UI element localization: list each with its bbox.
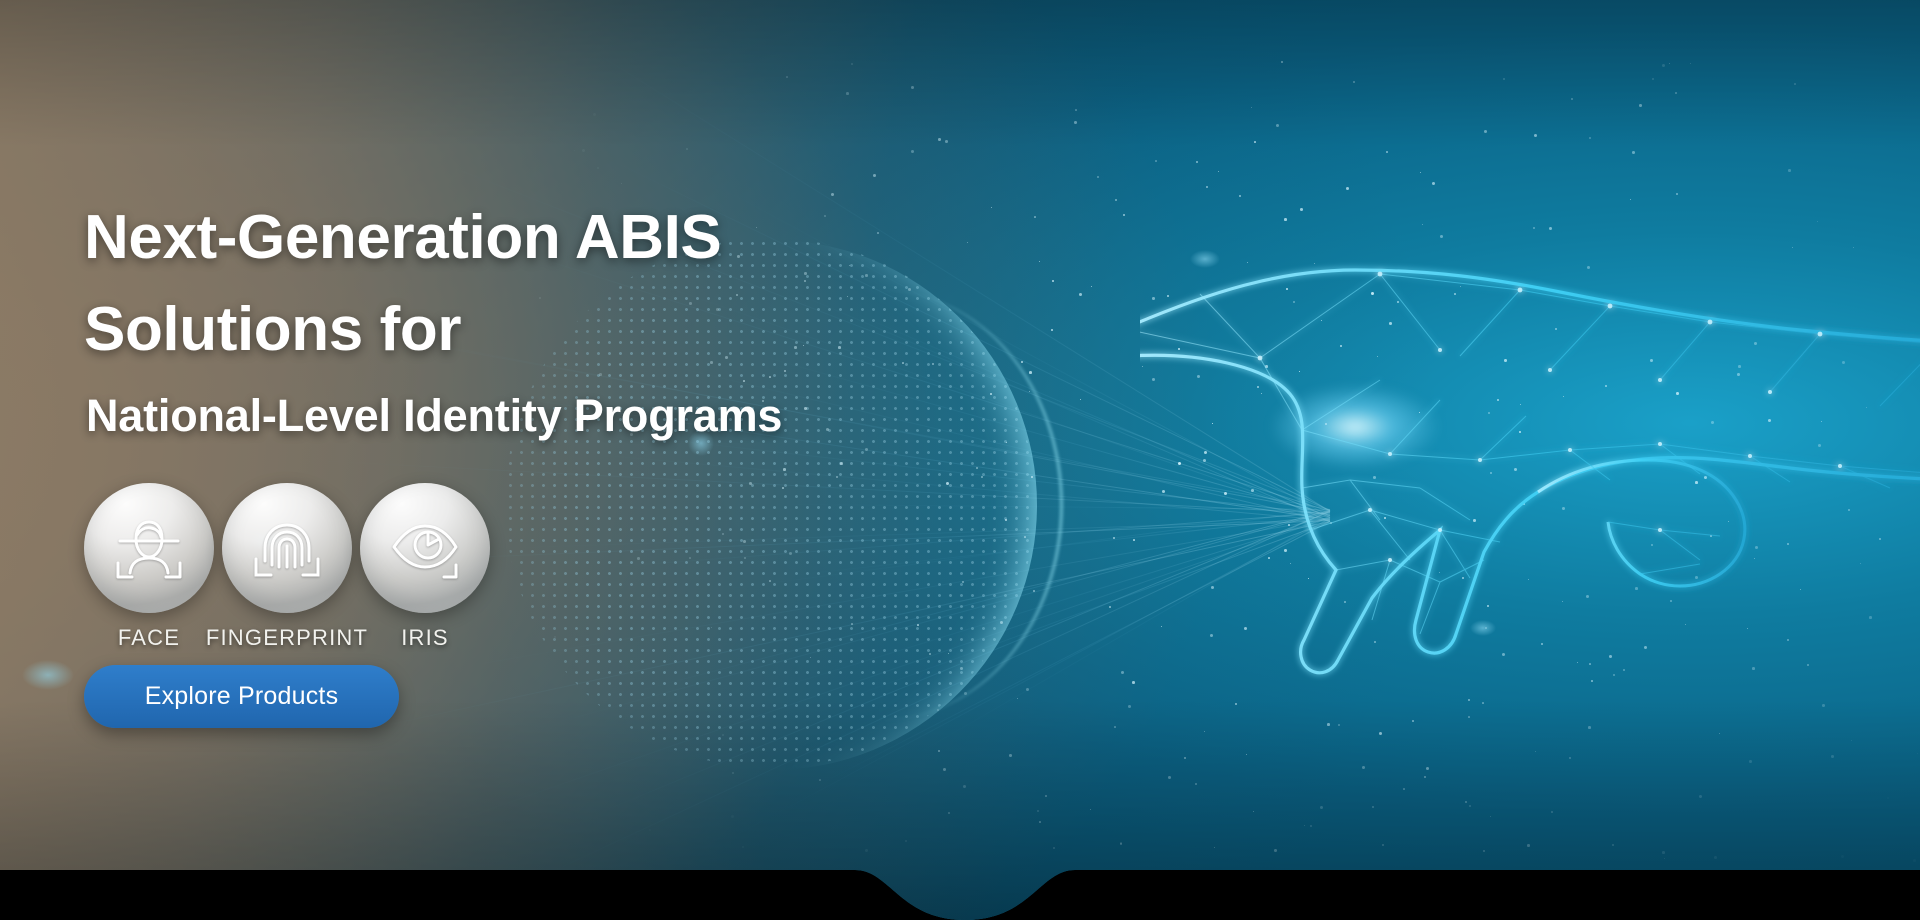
hero-banner: Next-Generation ABIS Solutions for Natio… <box>0 0 1920 920</box>
hero-content: Next-Generation ABIS Solutions for Natio… <box>0 0 1100 920</box>
iris-scan-icon <box>382 505 468 591</box>
page-title: Next-Generation ABIS Solutions for <box>84 192 1104 376</box>
fingerprint-scan-icon <box>244 505 330 591</box>
page-subtitle: National-Level Identity Programs <box>86 387 1106 445</box>
biometric-modalities: FACE <box>84 483 490 651</box>
fingerprint-badge[interactable] <box>222 483 352 613</box>
modality-fingerprint[interactable]: FINGERPRINT <box>222 483 352 651</box>
hero-screenshot: Next-Generation ABIS Solutions for Natio… <box>0 0 1920 920</box>
modality-face[interactable]: FACE <box>84 483 214 651</box>
face-scan-icon <box>106 505 192 591</box>
modality-label-iris: IRIS <box>401 625 449 651</box>
modality-iris[interactable]: IRIS <box>360 483 490 651</box>
explore-products-button[interactable]: Explore Products <box>84 665 399 728</box>
face-badge[interactable] <box>84 483 214 613</box>
iris-badge[interactable] <box>360 483 490 613</box>
headline-line-1: Next-Generation ABIS <box>84 192 1104 284</box>
modality-label-fingerprint: FINGERPRINT <box>206 625 368 651</box>
modality-label-face: FACE <box>118 625 180 651</box>
headline-line-2: Solutions for <box>84 284 1104 376</box>
